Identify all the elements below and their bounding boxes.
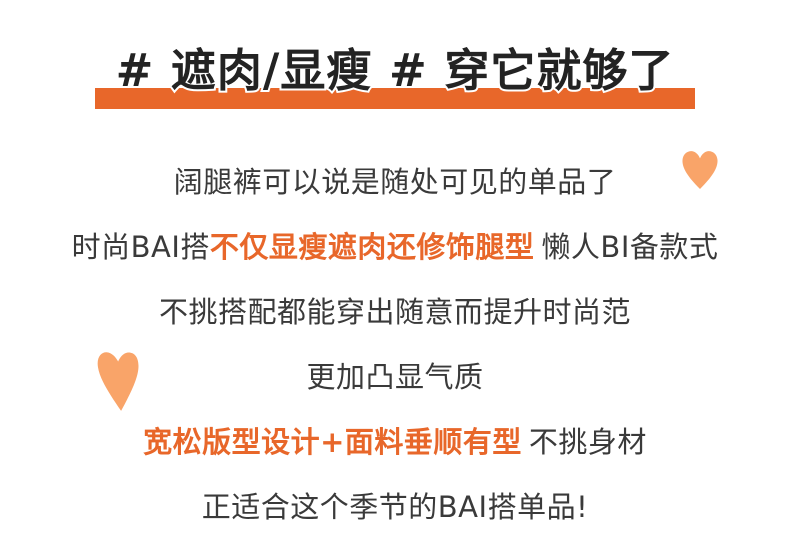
copy-segment: 正适合这个季节的BAI搭单品! <box>202 490 588 524</box>
copy-segment: 不挑身材 <box>529 425 647 459</box>
copy-segment: 阔腿裤可以说是随处可见的单品了 <box>174 165 617 199</box>
page-title: # 遮肉/显瘦 # 穿它就够了 <box>0 36 790 106</box>
copy-line-1: 阔腿裤可以说是随处可见的单品了 <box>0 150 790 215</box>
copy-line-5: 宽松版型设计+面料垂顺有型不挑身材 <box>0 410 790 475</box>
title-block: # 遮肉/显瘦 # 穿它就够了 <box>0 36 790 112</box>
promo-banner: # 遮肉/显瘦 # 穿它就够了 阔腿裤可以说是随处可见的单品了 时尚BAI搭不仅… <box>0 0 790 559</box>
copy-line-3: 不挑搭配都能穿出随意而提升时尚范 <box>0 280 790 345</box>
copy-segment: 更加凸显气质 <box>306 360 483 394</box>
body-copy: 阔腿裤可以说是随处可见的单品了 时尚BAI搭不仅显瘦遮肉还修饰腿型懒人BI备款式… <box>0 150 790 540</box>
copy-segment: 懒人BI备款式 <box>541 230 718 264</box>
copy-segment-accent: 宽松版型设计+面料垂顺有型 <box>143 425 522 459</box>
copy-segment: 时尚BAI搭 <box>72 230 210 264</box>
copy-segment-accent: 不仅显瘦遮肉还修饰腿型 <box>210 230 535 264</box>
copy-line-4: 更加凸显气质 <box>0 345 790 410</box>
copy-line-6: 正适合这个季节的BAI搭单品! <box>0 475 790 540</box>
copy-line-2: 时尚BAI搭不仅显瘦遮肉还修饰腿型懒人BI备款式 <box>0 215 790 280</box>
copy-segment: 不挑搭配都能穿出随意而提升时尚范 <box>159 295 631 329</box>
